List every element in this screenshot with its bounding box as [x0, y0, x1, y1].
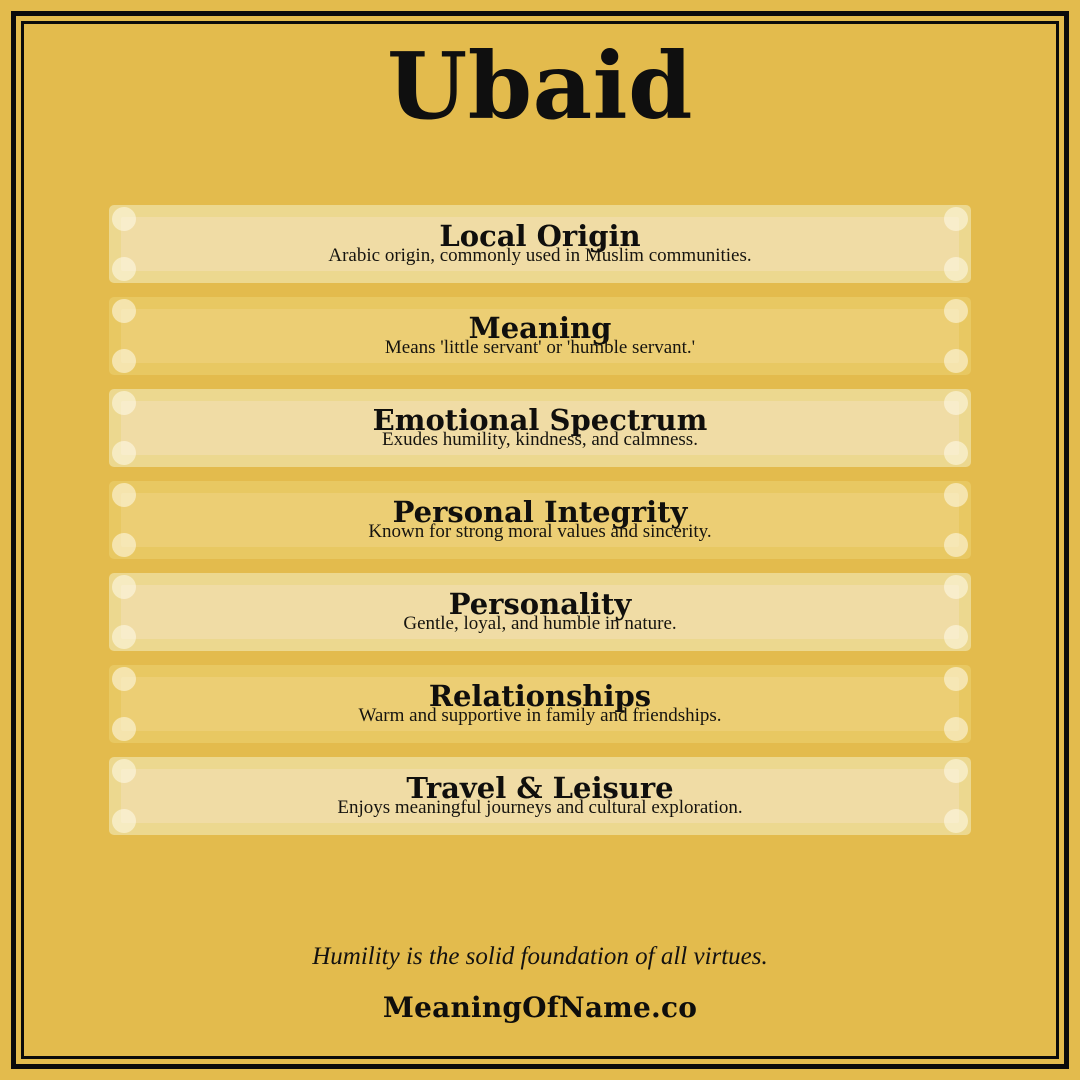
- attribute-card-travel-leisure: Travel & Leisure Enjoys meaningful journ…: [109, 757, 971, 835]
- attribute-card-emotional-spectrum: Emotional Spectrum Exudes humility, kind…: [109, 389, 971, 467]
- attribute-card-local-origin: Local Origin Arabic origin, commonly use…: [109, 205, 971, 283]
- card-text: Local Origin Arabic origin, commonly use…: [123, 223, 957, 265]
- card-text: Personal Integrity Known for strong mora…: [123, 499, 957, 541]
- card-text: Relationships Warm and supportive in fam…: [123, 683, 957, 725]
- poster: Ubaid Local Origin Arabic origin, common…: [0, 0, 1080, 1080]
- card-text: Travel & Leisure Enjoys meaningful journ…: [123, 775, 957, 817]
- footer-tagline: Humility is the solid foundation of all …: [24, 943, 1056, 971]
- card-description: Means 'little servant' or 'humble servan…: [123, 339, 957, 357]
- footer-brand: MeaningOfName.co: [24, 991, 1056, 1024]
- attribute-card-relationships: Relationships Warm and supportive in fam…: [109, 665, 971, 743]
- card-text: Emotional Spectrum Exudes humility, kind…: [123, 407, 957, 449]
- card-description: Exudes humility, kindness, and calmness.: [123, 431, 957, 449]
- card-description: Known for strong moral values and sincer…: [123, 523, 957, 541]
- card-description: Arabic origin, commonly used in Muslim c…: [123, 247, 957, 265]
- card-description: Warm and supportive in family and friend…: [123, 707, 957, 725]
- attribute-card-personality: Personality Gentle, loyal, and humble in…: [109, 573, 971, 651]
- attribute-card-list: Local Origin Arabic origin, commonly use…: [109, 205, 971, 849]
- card-text: Personality Gentle, loyal, and humble in…: [123, 591, 957, 633]
- footer: Humility is the solid foundation of all …: [24, 943, 1056, 1024]
- card-description: Enjoys meaningful journeys and cultural …: [123, 799, 957, 817]
- poster-content: Ubaid Local Origin Arabic origin, common…: [24, 24, 1056, 1056]
- page-title: Ubaid: [24, 38, 1056, 135]
- attribute-card-meaning: Meaning Means 'little servant' or 'humbl…: [109, 297, 971, 375]
- card-text: Meaning Means 'little servant' or 'humbl…: [123, 315, 957, 357]
- attribute-card-personal-integrity: Personal Integrity Known for strong mora…: [109, 481, 971, 559]
- card-description: Gentle, loyal, and humble in nature.: [123, 615, 957, 633]
